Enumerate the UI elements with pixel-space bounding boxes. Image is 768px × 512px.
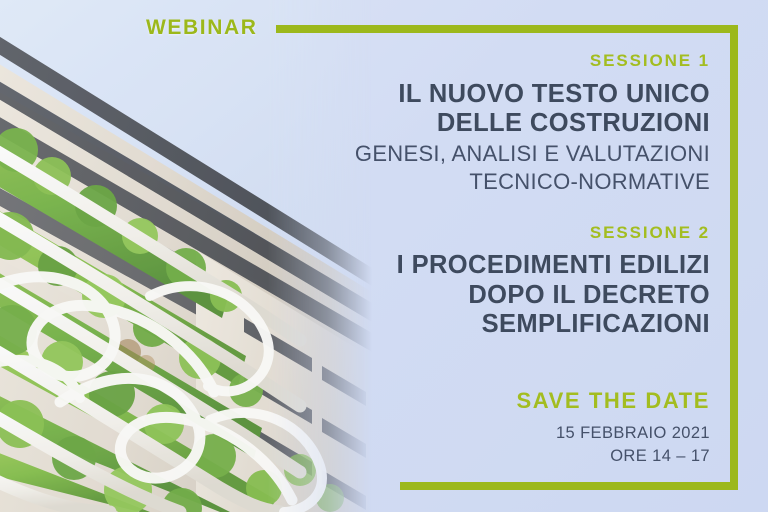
session-2-title-line-2: DOPO IL DECRETO: [310, 281, 710, 311]
session-1-title-line-2: DELLE COSTRUZIONI: [310, 109, 710, 139]
session-1-subtitle-line-2: TECNICO-NORMATIVE: [310, 169, 710, 195]
session-1: SESSIONE 1 IL NUOVO TESTO UNICO DELLE CO…: [310, 52, 710, 196]
webinar-poster: WEBINAR SESSIONE 1 IL NUOVO TESTO UNICO …: [0, 0, 768, 512]
session-2-label: SESSIONE 2: [310, 224, 710, 243]
session-1-label: SESSIONE 1: [310, 52, 710, 71]
session-1-title-line-1: IL NUOVO TESTO UNICO: [310, 80, 710, 110]
frame-right-line: [730, 25, 738, 490]
session-2-title-line-1: I PROCEDIMENTI EDILIZI: [310, 251, 710, 281]
session-2-title-line-3: SEMPLIFICAZIONI: [310, 310, 710, 340]
webinar-kicker: WEBINAR: [146, 16, 258, 40]
sessions-block: SESSIONE 1 IL NUOVO TESTO UNICO DELLE CO…: [310, 52, 710, 340]
event-date: 15 FEBBRAIO 2021: [380, 422, 710, 444]
event-time: ORE 14 – 17: [380, 445, 710, 467]
frame-bottom-bar: [400, 482, 738, 490]
frame-top-bar: [276, 25, 738, 33]
session-1-subtitle-line-1: GENESI, ANALISI E VALUTAZIONI: [310, 141, 710, 167]
save-the-date-heading: SAVE THE DATE: [380, 388, 710, 414]
save-the-date-block: SAVE THE DATE 15 FEBBRAIO 2021 ORE 14 – …: [380, 388, 710, 467]
sessions-spacer: [310, 196, 710, 224]
session-2: SESSIONE 2 I PROCEDIMENTI EDILIZI DOPO I…: [310, 224, 710, 340]
